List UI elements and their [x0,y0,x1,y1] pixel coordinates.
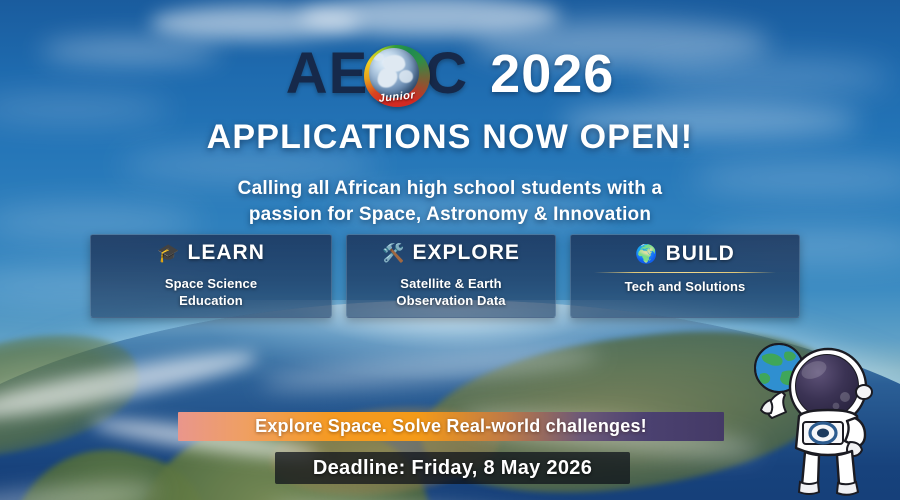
card-header: 🌍 BUILD [635,241,735,267]
feature-cards: 🎓 LEARN Space Science Education 🛠️ EXPLO… [90,234,800,318]
visor-glint [840,392,850,402]
visor-glint [833,403,840,410]
card-description-explore: Satellite & Earth Observation Data [396,276,505,309]
tagline-banner: Explore Space. Solve Real-world challeng… [178,412,724,441]
card-desc-line-1: Tech and Solutions [625,279,746,296]
astronaut-left-hand [761,400,772,414]
brand-logo-row: AE Junior C 2026 [0,40,900,108]
astronaut-holding-globe-icon [752,340,892,500]
card-desc-line-2: Education [165,293,257,310]
card-title-learn: LEARN [188,241,265,265]
card-divider [594,272,776,273]
card-title-build: BUILD [666,242,735,266]
card-desc-line-1: Space Science [165,276,257,293]
subheadline: Calling all African high school students… [0,176,900,228]
brand-year: 2026 [490,47,614,101]
brand-wordmark: AE Junior C 2026 [286,43,615,105]
astronaut-helmet-knob [856,385,872,399]
card-desc-line-1: Satellite & Earth [396,276,505,293]
subheadline-line-2: passion for Space, Astronomy & Innovatio… [0,202,900,228]
hammer-and-wrench-icon: 🛠️ [382,244,404,262]
tagline-text: Explore Space. Solve Real-world challeng… [255,416,647,437]
feature-card-learn[interactable]: 🎓 LEARN Space Science Education [90,234,332,318]
chest-panel-center [817,429,829,438]
card-header: 🛠️ EXPLORE [382,241,520,265]
deadline-banner: Deadline: Friday, 8 May 2026 [275,452,630,484]
astronaut-left-boot [799,482,819,494]
promo-poster: AE Junior C 2026 APPLICATIONS NOW OPEN! … [0,0,900,500]
subheadline-line-1: Calling all African high school students… [0,176,900,202]
feature-card-explore[interactable]: 🛠️ EXPLORE Satellite & Earth Observation… [346,234,556,318]
card-header: 🎓 LEARN [157,241,265,265]
card-description-build: Tech and Solutions [625,279,746,296]
deadline-text: Deadline: Friday, 8 May 2026 [313,457,592,480]
card-description-learn: Space Science Education [165,276,257,309]
card-desc-line-2: Observation Data [396,293,505,310]
brand-letters-suffix: C [425,45,468,103]
headline: APPLICATIONS NOW OPEN! [0,118,900,157]
astronaut-right-boot [837,482,858,495]
globe-africa-logo-icon: Junior [364,45,430,107]
card-title-explore: EXPLORE [413,241,520,265]
earth-globe-icon: 🌍 [635,245,657,263]
brand-letters-prefix: AE [286,45,369,103]
graduation-book-icon: 🎓 [157,244,179,262]
feature-card-build[interactable]: 🌍 BUILD Tech and Solutions [570,234,800,318]
